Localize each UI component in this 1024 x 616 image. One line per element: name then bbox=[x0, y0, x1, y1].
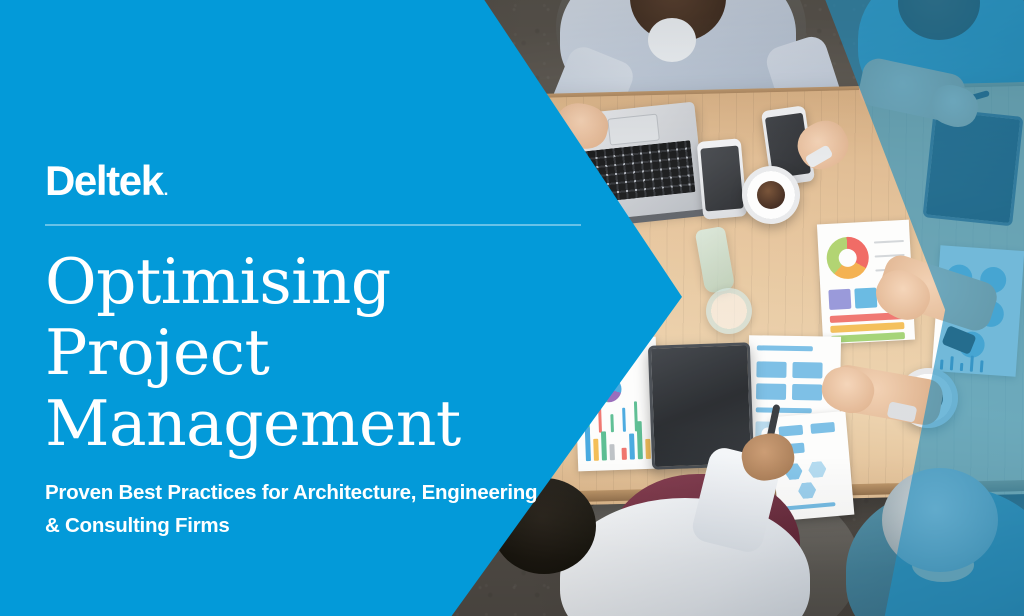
color-swatch bbox=[828, 289, 851, 310]
coffee-cup bbox=[742, 166, 800, 224]
subtitle-line-1: Proven Best Practices for Architecture, … bbox=[45, 476, 590, 509]
bar bbox=[609, 444, 615, 460]
mini-bar bbox=[610, 414, 614, 432]
cover-content: Deltek. Optimising Project Management Pr… bbox=[45, 160, 590, 542]
title-line-2: Management bbox=[45, 388, 590, 459]
mini-bar bbox=[960, 363, 964, 371]
mini-bar bbox=[970, 356, 974, 372]
smartphone bbox=[697, 138, 748, 220]
subtitle-line-2: & Consulting Firms bbox=[45, 509, 590, 542]
wireframe-block bbox=[756, 361, 786, 378]
mini-bar bbox=[940, 360, 944, 370]
deltek-logo: Deltek. bbox=[45, 160, 590, 202]
hexagon-node bbox=[808, 461, 827, 479]
logo-trademark-mark: . bbox=[164, 180, 169, 199]
flow-arrow bbox=[785, 502, 835, 510]
drinking-glass bbox=[706, 288, 752, 334]
flow-block bbox=[810, 422, 835, 434]
bar bbox=[645, 439, 651, 459]
shirt-collar bbox=[648, 18, 696, 62]
header-divider bbox=[45, 224, 581, 226]
tablet bbox=[922, 108, 1023, 227]
bar bbox=[622, 448, 627, 460]
logo-wordmark: Deltek bbox=[45, 157, 163, 204]
donut-chart bbox=[826, 236, 870, 280]
wireframe-block bbox=[756, 383, 786, 400]
bar bbox=[601, 431, 607, 460]
mini-bar bbox=[980, 360, 984, 372]
wireframe-block bbox=[757, 345, 813, 351]
legend-line bbox=[874, 240, 904, 244]
title-line-1: Optimising Project bbox=[45, 246, 590, 388]
bar bbox=[629, 433, 635, 459]
mini-bar bbox=[950, 356, 954, 370]
page-title: Optimising Project Management bbox=[45, 246, 590, 460]
ebook-cover: Deltek. Optimising Project Management Pr… bbox=[0, 0, 1024, 616]
bar bbox=[637, 421, 643, 459]
wireframe-block bbox=[756, 407, 812, 413]
wireframe-block bbox=[792, 362, 822, 379]
mini-bar bbox=[622, 408, 626, 432]
laptop-trackpad bbox=[607, 114, 660, 146]
hexagon-node bbox=[797, 482, 816, 500]
page-subtitle: Proven Best Practices for Architecture, … bbox=[45, 476, 590, 542]
person-head bbox=[882, 468, 998, 572]
color-swatch bbox=[854, 287, 877, 308]
bar-row bbox=[830, 322, 904, 333]
wireframe-block bbox=[792, 384, 822, 401]
bar bbox=[593, 439, 599, 461]
